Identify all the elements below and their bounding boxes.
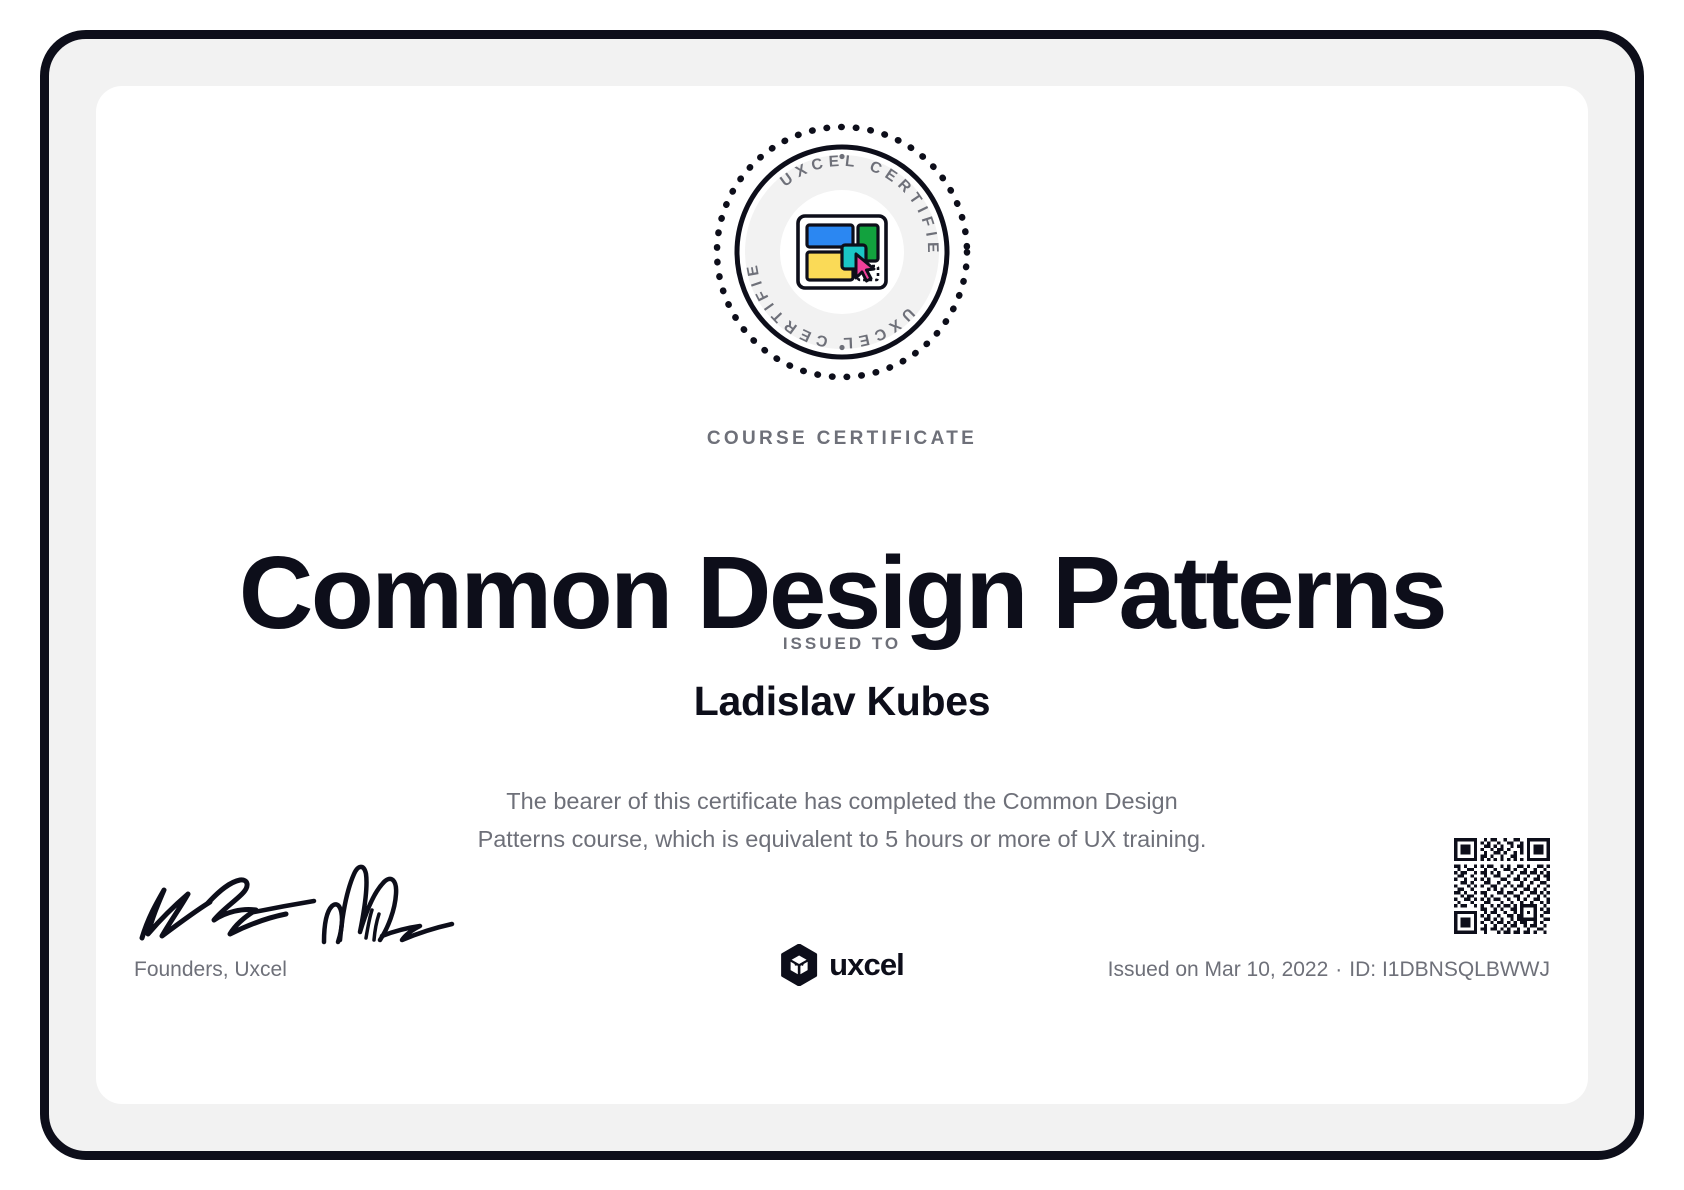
issued-to-label: ISSUED TO <box>96 634 1588 654</box>
issue-date: Issued on Mar 10, 2022 <box>1108 958 1329 981</box>
uxcel-certified-seal: UXCEL CERTIFIED UXCEL CERTIFIED <box>711 121 973 383</box>
design-patterns-icon <box>798 216 886 288</box>
uxcel-hexagon-cube-logo-icon <box>780 944 818 986</box>
page-title: Common Design Patterns <box>96 537 1588 648</box>
course-certificate-label: COURSE CERTIFICATE <box>96 428 1588 450</box>
seal-bullet-top <box>839 154 844 159</box>
founder-signatures <box>134 846 464 946</box>
issue-meta: Issued on Mar 10, 2022·ID: I1DBNSQLBWWJ <box>1108 958 1550 982</box>
seal-bullet-bottom <box>839 345 844 350</box>
certificate-id: ID: I1DBNSQLBWWJ <box>1349 958 1550 981</box>
verification-qr-code[interactable] <box>1454 838 1550 934</box>
certificate-description: The bearer of this certificate has compl… <box>472 782 1212 858</box>
founders-label: Founders, Uxcel <box>134 958 287 982</box>
recipient-name: Ladislav Kubes <box>96 678 1588 725</box>
uxcel-logo: uxcel <box>780 944 904 986</box>
uxcel-wordmark: uxcel <box>829 947 904 983</box>
certificate-card: UXCEL CERTIFIED UXCEL CERTIFIED <box>96 86 1588 1104</box>
certificate-frame: UXCEL CERTIFIED UXCEL CERTIFIED <box>40 30 1644 1160</box>
meta-separator: · <box>1328 958 1349 981</box>
